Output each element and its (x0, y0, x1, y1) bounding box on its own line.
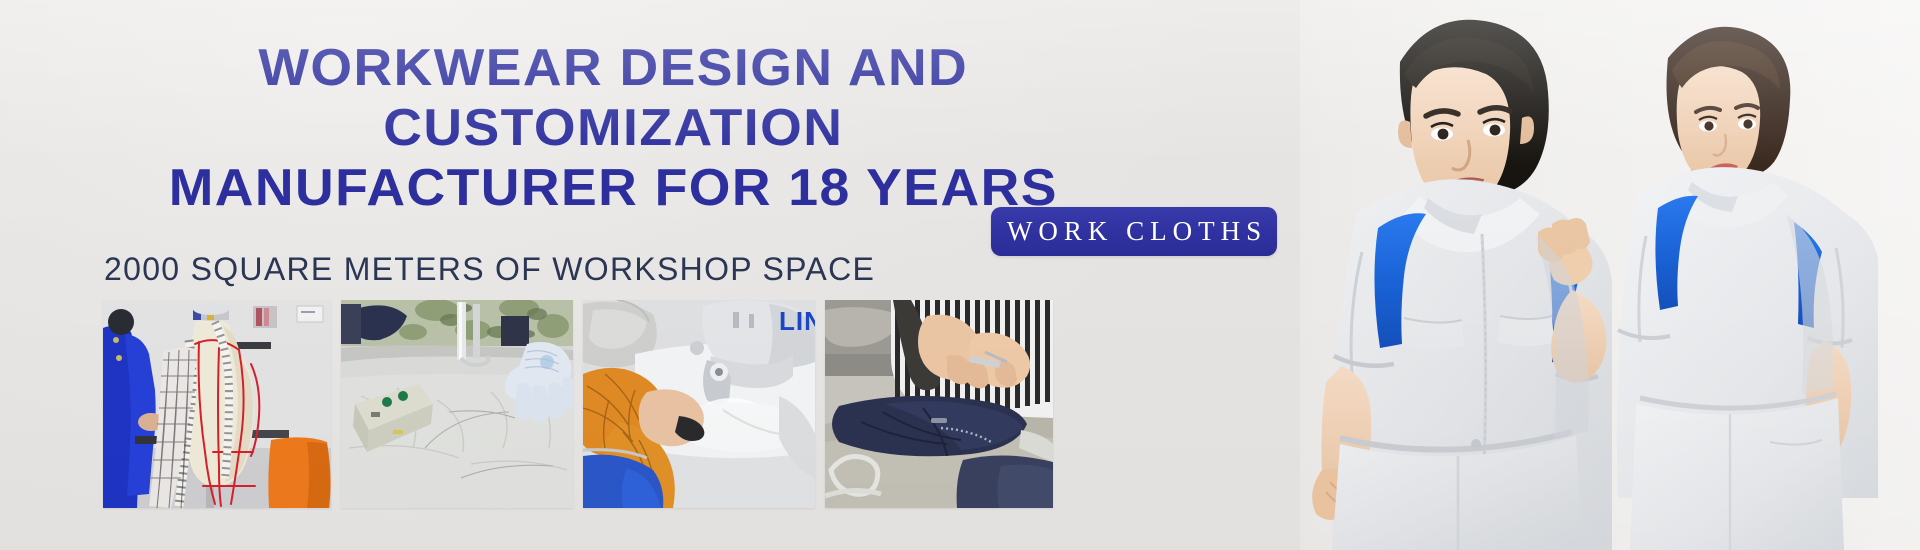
promo-banner: WORKWEAR DESIGN AND CUSTOMIZATION MANUFA… (0, 0, 1920, 550)
page-title: WORKWEAR DESIGN AND CUSTOMIZATION MANUFA… (88, 38, 1139, 218)
workshop-photo-strip: LINKS (103, 300, 1053, 508)
thumbnail-sewing-machine[interactable]: LINKS (583, 300, 815, 508)
thumbnail-pattern-making[interactable] (103, 300, 331, 508)
thumbnail-quality-inspection[interactable] (825, 300, 1053, 508)
sewing-illustration: LINKS (583, 300, 815, 508)
work-cloths-badge[interactable]: WORK CLOTHS (991, 207, 1277, 256)
models-illustration (1300, 0, 1920, 550)
inspection-illustration (825, 300, 1053, 508)
badge-label: WORK CLOTHS (1001, 216, 1267, 247)
subtitle-text: 2000 SQUARE METERS OF WORKSHOP SPACE (104, 250, 875, 288)
uniform-models-photo (1300, 0, 1920, 550)
svg-text:LINKS: LINKS (779, 306, 815, 336)
thumbnail-fabric-cutting[interactable] (341, 300, 573, 508)
fabric-cutting-illustration (341, 300, 573, 508)
pattern-making-illustration (103, 300, 331, 508)
